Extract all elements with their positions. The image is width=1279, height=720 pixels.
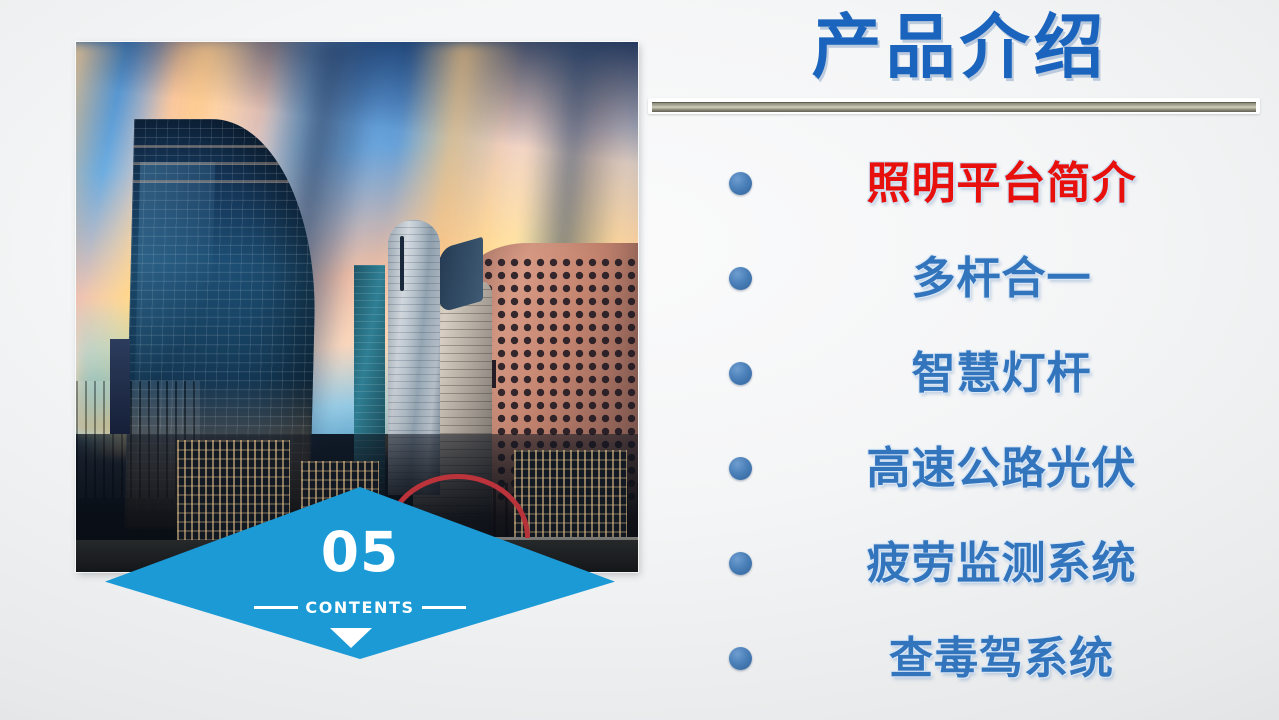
tower-slit [400,236,404,291]
caption-rule-left [254,606,298,609]
glass-sheen [135,162,215,401]
page-title: 产品介绍 [640,8,1279,86]
list-item-label: 疲劳监测系统 [752,542,1279,586]
list-item[interactable]: 多杆合一 [700,231,1279,326]
list-item-label: 高速公路光伏 [752,447,1279,491]
ground-strip [76,540,638,572]
facade-band [134,162,320,165]
caption-rule-right [422,606,466,609]
title-divider [648,98,1260,114]
list-item-label: 照明平台简介 [752,162,1279,206]
bullet-dot-icon [729,457,752,480]
list-item-label: 多杆合一 [752,257,1279,301]
contents-caption: CONTENTS [105,598,615,617]
agenda-list: 照明平台简介 多杆合一 智慧灯杆 高速公路光伏 疲劳监测系统 查毒驾系统 [700,136,1279,706]
bullet-dot-icon [729,362,752,385]
presentation-slide: 05 CONTENTS 产品介绍 照明平台简介 多杆合一 智慧灯杆 高速公路光伏 [0,0,1279,720]
list-item[interactable]: 查毒驾系统 [700,611,1279,706]
divider-bevel [652,102,1256,112]
cityscape-photo-card [76,42,638,572]
list-item[interactable]: 疲劳监测系统 [700,516,1279,611]
foreground-block [514,450,626,540]
bullet-dot-icon [729,267,752,290]
list-item-label: 智慧灯杆 [752,352,1279,396]
contents-label: CONTENTS [305,598,414,617]
caret-down-icon [330,628,372,648]
cityscape-photo [76,42,638,572]
list-item-label: 查毒驾系统 [752,637,1279,681]
bullet-dot-icon [729,172,752,195]
bullet-dot-icon [729,552,752,575]
facade-band [134,145,320,148]
facade-band [133,180,319,183]
list-item[interactable]: 照明平台简介 [700,136,1279,231]
foreground-block [177,440,289,541]
distant-dark-tower [110,339,130,434]
list-item[interactable]: 智慧灯杆 [700,326,1279,421]
bullet-dot-icon [729,647,752,670]
list-item[interactable]: 高速公路光伏 [700,421,1279,516]
